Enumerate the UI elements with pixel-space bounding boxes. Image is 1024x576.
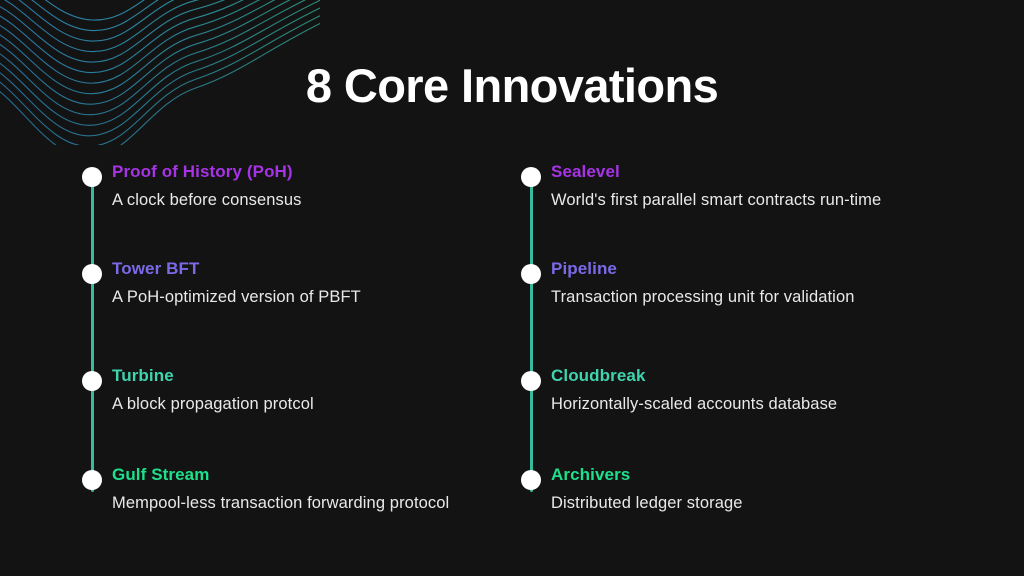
list-item-text: Proof of History (PoH) A clock before co… xyxy=(112,161,532,211)
list-item-text: Cloudbreak Horizontally-scaled accounts … xyxy=(551,365,971,415)
list-item-text: Pipeline Transaction processing unit for… xyxy=(551,258,971,308)
timeline-dot-icon xyxy=(82,264,102,284)
innovation-subtitle: Transaction processing unit for validati… xyxy=(551,286,971,308)
timeline-dot-icon xyxy=(521,167,541,187)
wave-line xyxy=(0,0,320,52)
list-item[interactable]: Proof of History (PoH) A clock before co… xyxy=(82,165,532,225)
innovation-title: Archivers xyxy=(551,464,971,486)
list-item[interactable]: Turbine A block propagation protcol xyxy=(82,369,532,429)
timeline-dot-icon xyxy=(521,264,541,284)
innovation-title: Gulf Stream xyxy=(112,464,532,486)
list-item-text: Turbine A block propagation protcol xyxy=(112,365,532,415)
list-item-text: Archivers Distributed ledger storage xyxy=(551,464,971,514)
innovation-title: Tower BFT xyxy=(112,258,532,280)
timeline-dot-icon xyxy=(82,371,102,391)
innovation-title: Proof of History (PoH) xyxy=(112,161,532,183)
innovation-subtitle: Horizontally-scaled accounts database xyxy=(551,393,971,415)
list-item[interactable]: Sealevel World's first parallel smart co… xyxy=(521,165,971,225)
list-item-text: Gulf Stream Mempool-less transaction for… xyxy=(112,464,532,514)
list-item[interactable]: Tower BFT A PoH-optimized version of PBF… xyxy=(82,262,532,322)
innovation-title: Pipeline xyxy=(551,258,971,280)
page-title: 8 Core Innovations xyxy=(0,58,1024,113)
timeline-dot-icon xyxy=(82,470,102,490)
innovation-subtitle: Distributed ledger storage xyxy=(551,492,971,514)
innovation-subtitle: Mempool-less transaction forwarding prot… xyxy=(112,492,532,514)
timeline-column-left: Proof of History (PoH) A clock before co… xyxy=(82,165,532,525)
innovation-subtitle: A block propagation protcol xyxy=(112,393,532,415)
timeline-column-right: Sealevel World's first parallel smart co… xyxy=(521,165,971,525)
list-item-text: Sealevel World's first parallel smart co… xyxy=(551,161,971,211)
innovation-title: Turbine xyxy=(112,365,532,387)
list-item-text: Tower BFT A PoH-optimized version of PBF… xyxy=(112,258,532,308)
innovation-subtitle: World's first parallel smart contracts r… xyxy=(551,189,971,211)
timeline-dot-icon xyxy=(521,371,541,391)
innovations-grid: Proof of History (PoH) A clock before co… xyxy=(0,165,1024,545)
innovation-subtitle: A clock before consensus xyxy=(112,189,532,211)
timeline-dot-icon xyxy=(82,167,102,187)
innovation-title: Cloudbreak xyxy=(551,365,971,387)
list-item[interactable]: Archivers Distributed ledger storage xyxy=(521,468,971,528)
wave-line xyxy=(0,0,320,20)
list-item[interactable]: Pipeline Transaction processing unit for… xyxy=(521,262,971,322)
wave-line xyxy=(0,0,320,41)
wave-line xyxy=(0,0,320,62)
timeline-dot-icon xyxy=(521,470,541,490)
innovation-title: Sealevel xyxy=(551,161,971,183)
list-item[interactable]: Cloudbreak Horizontally-scaled accounts … xyxy=(521,369,971,429)
list-item[interactable]: Gulf Stream Mempool-less transaction for… xyxy=(82,468,532,528)
innovation-subtitle: A PoH-optimized version of PBFT xyxy=(112,286,532,308)
wave-line xyxy=(0,0,320,31)
